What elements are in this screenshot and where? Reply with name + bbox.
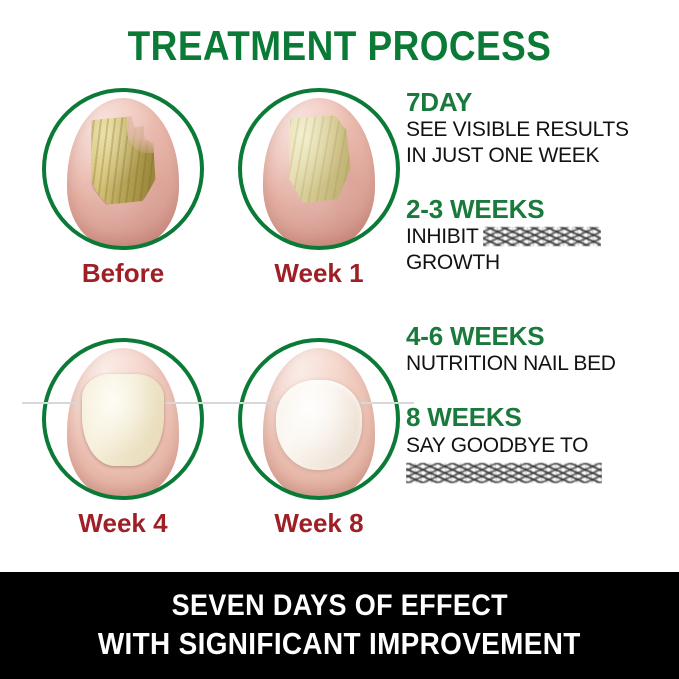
timeline-heading: 4-6 WEEKS xyxy=(406,322,674,351)
photo-cell-before: Before xyxy=(28,88,218,298)
page-title: TREATMENT PROCESS xyxy=(41,22,639,70)
timeline-block-4-6weeks: 4-6 WEEKS NUTRITION NAIL BED xyxy=(406,322,674,377)
nail-photo-week1 xyxy=(238,88,400,250)
nail-shape-recovering xyxy=(82,374,164,466)
nail-photo-week4 xyxy=(42,338,204,500)
photo-grid: Before Week 1 Week 4 Week 8 xyxy=(0,80,414,560)
redacted-word xyxy=(483,225,601,247)
timeline-block-2-3weeks: 2-3 WEEKS INHIBIT GROWTH xyxy=(406,195,674,276)
photo-label-week1: Week 1 xyxy=(224,258,414,289)
bottom-banner: SEVEN DAYS OF EFFECT WITH SIGNIFICANT IM… xyxy=(0,572,679,679)
timeline-line-text: INHIBIT xyxy=(406,225,479,248)
photo-cell-week4: Week 4 xyxy=(28,338,218,548)
timeline-text-column: 7DAY SEE VISIBLE RESULTS IN JUST ONE WEE… xyxy=(406,88,674,516)
photo-label-week8: Week 8 xyxy=(224,508,414,539)
banner-line-2: WITH SIGNIFICANT IMPROVEMENT xyxy=(98,625,581,664)
timeline-line: IN JUST ONE WEEK xyxy=(406,143,674,169)
photo-cell-week8: Week 8 xyxy=(224,338,414,548)
timeline-heading: 7DAY xyxy=(406,88,674,117)
timeline-heading: 2-3 WEEKS xyxy=(406,195,674,224)
timeline-heading: 8 WEEKS xyxy=(406,403,674,432)
banner-line-1: SEVEN DAYS OF EFFECT xyxy=(171,587,507,625)
nail-photo-week8 xyxy=(238,338,400,500)
timeline-line: INHIBIT xyxy=(406,224,674,250)
photo-label-week4: Week 4 xyxy=(28,508,218,539)
photo-cell-week1: Week 1 xyxy=(224,88,414,298)
timeline-line: GROWTH xyxy=(406,250,674,276)
promo-graphic: TREATMENT PROCESS Before Week 1 W xyxy=(0,0,679,679)
nail-photo-before xyxy=(42,88,204,250)
photo-label-before: Before xyxy=(28,258,218,289)
timeline-line: NUTRITION NAIL BED xyxy=(406,351,674,377)
redacted-word xyxy=(406,461,602,485)
timeline-line: SAY GOODBYE TO xyxy=(406,433,674,459)
timeline-block-7day: 7DAY SEE VISIBLE RESULTS IN JUST ONE WEE… xyxy=(406,88,674,169)
timeline-block-8weeks: 8 WEEKS SAY GOODBYE TO xyxy=(406,403,674,489)
nail-shape-healthy xyxy=(276,380,362,470)
timeline-line: SEE VISIBLE RESULTS xyxy=(406,117,674,143)
